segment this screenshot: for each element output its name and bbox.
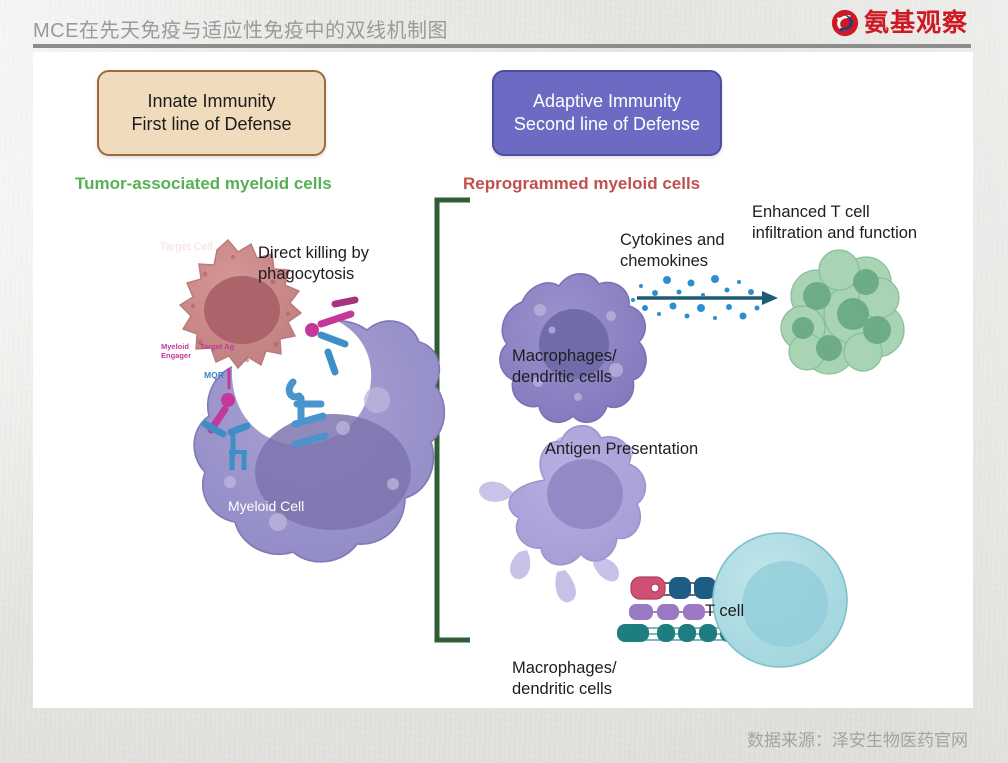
label-antigen-presentation: Antigen Presentation	[545, 439, 698, 460]
brand-swirl-emblem-icon	[831, 9, 859, 37]
tcell-cluster-shape	[781, 250, 904, 374]
label-myeloid-cell: Myeloid Cell	[228, 498, 304, 514]
header-divider	[33, 44, 971, 48]
data-source-note: 数据来源：泽安生物医药官网	[747, 726, 968, 751]
right-top-artwork	[500, 250, 904, 422]
label-mqr-receptor: MQR	[204, 371, 224, 381]
tcell-shape	[713, 533, 847, 667]
cytokine-arrow-icon	[637, 291, 778, 305]
brand-logo-text: 氨基观察	[864, 9, 968, 37]
diagram-artwork	[33, 52, 973, 708]
page-title: MCE在先天免疫与适应性免疫中的双线机制图	[33, 14, 448, 43]
left-panel-artwork	[180, 240, 444, 562]
label-target-cell: Target Cell	[160, 241, 213, 254]
brand-logo: 氨基观察	[831, 8, 968, 38]
page-header: MCE在先天免疫与适应性免疫中的双线机制图 氨基观察	[0, 0, 1008, 46]
label-macrophages-dendritic-top: Macrophages/ dendritic cells	[512, 346, 617, 387]
right-bottom-artwork	[479, 426, 847, 667]
label-cytokines-chemokines: Cytokines and chemokines	[620, 230, 725, 271]
label-enhanced-tcell: Enhanced T cell infiltration and functio…	[752, 202, 917, 243]
label-tcell: T cell	[705, 601, 744, 622]
label-target-antigen: Target Ag	[200, 343, 234, 352]
label-direct-killing: Direct killing by phagocytosis	[258, 243, 369, 284]
label-myeloid-engager: Myeloid Engager	[161, 343, 191, 360]
label-macrophages-dendritic-bottom: Macrophages/ dendritic cells	[512, 658, 617, 699]
page-footer: 数据来源：泽安生物医药官网	[0, 716, 1008, 763]
